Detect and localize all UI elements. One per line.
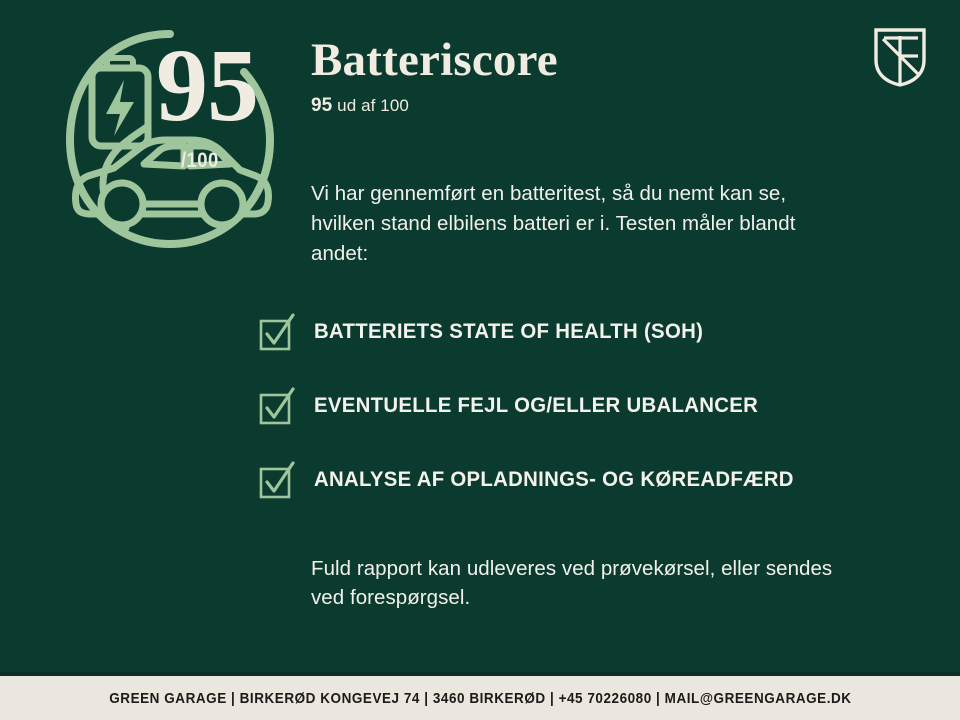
checkbox-checked-icon [258, 312, 296, 352]
score-badge: 95 /100 [52, 22, 292, 257]
battery-score-infographic: 95 /100 Batteriscore 95 ud af 100 Vi har… [0, 0, 960, 720]
footer-bar: GREEN GARAGE | BIRKERØD KONGEVEJ 74 | 34… [0, 676, 960, 720]
feature-checklist: BATTERIETS STATE OF HEALTH (SOH) EVENTUE… [258, 308, 898, 504]
checkbox-checked-icon [258, 386, 296, 426]
footer-contact-text: GREEN GARAGE | BIRKERØD KONGEVEJ 74 | 34… [109, 690, 851, 707]
checklist-label: ANALYSE AF OPLADNINGS- OG KØREADFÆRD [314, 468, 794, 492]
checklist-label: EVENTUELLE FEJL OG/ELLER UBALANCER [314, 394, 758, 418]
list-item: BATTERIETS STATE OF HEALTH (SOH) [258, 308, 898, 356]
checkbox-checked-icon [258, 460, 296, 500]
intro-paragraph: Vi har gennemført en batteritest, så du … [311, 179, 831, 268]
subtitle-rest: ud af 100 [337, 96, 409, 115]
list-item: ANALYSE AF OPLADNINGS- OG KØREADFÆRD [258, 456, 898, 504]
page-title: Batteriscore [311, 36, 911, 85]
checklist-label: BATTERIETS STATE OF HEALTH (SOH) [314, 320, 703, 344]
score-max: /100 [181, 149, 219, 173]
score-value: 95 [156, 34, 336, 138]
subtitle-score: 95 [311, 95, 332, 116]
outro-paragraph: Fuld rapport kan udleveres ved prøvekørs… [311, 554, 851, 613]
score-subtitle: 95 ud af 100 [311, 95, 911, 117]
content-column: Batteriscore 95 ud af 100 Vi har gennemf… [311, 36, 911, 269]
list-item: EVENTUELLE FEJL OG/ELLER UBALANCER [258, 382, 898, 430]
